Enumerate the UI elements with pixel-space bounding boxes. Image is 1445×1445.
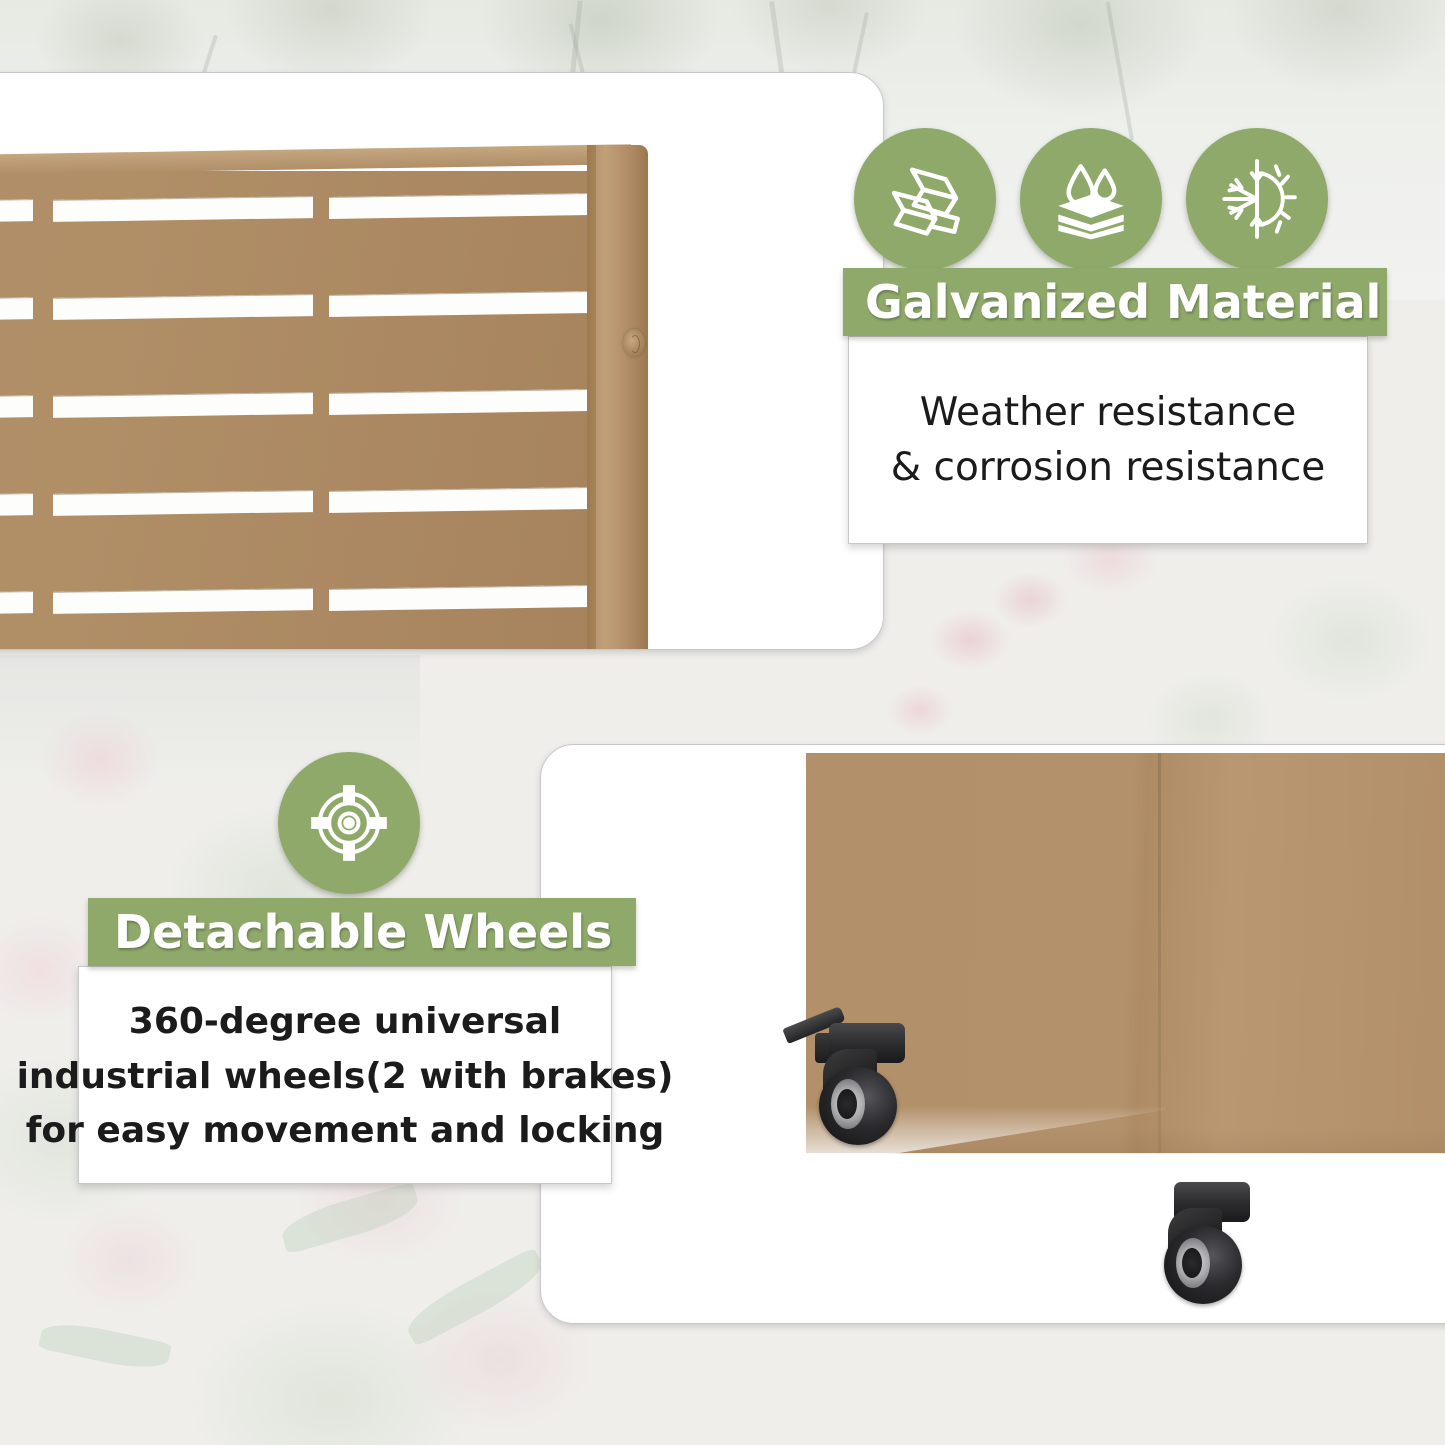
feature-title-bar: Galvanized Material (843, 268, 1387, 336)
panel-slot (53, 490, 313, 516)
product-photo-card-casters (540, 744, 1445, 1324)
post-face (596, 145, 648, 650)
box-panel-seam (1158, 753, 1161, 1153)
feature-title: Galvanized Material (865, 279, 1381, 325)
panel-slot (329, 487, 591, 513)
panel-slot (0, 199, 33, 223)
feature-description-line: for easy movement and locking (26, 1104, 665, 1159)
slatted-panel-body (0, 171, 631, 649)
panel-slot (329, 291, 591, 317)
water-droplets-layers-icon (1020, 128, 1162, 270)
panel-slot (0, 395, 33, 419)
crosshair-target-icon (278, 752, 420, 894)
panel-slot (0, 591, 33, 615)
feature-description-line: Weather resistance (920, 385, 1297, 440)
feature-description-box: Weather resistance & corrosion resistanc… (848, 336, 1368, 544)
caster-hub-center (837, 1089, 857, 1119)
screw-icon (623, 329, 645, 357)
panel-slot (53, 196, 313, 222)
panel-slot (329, 585, 591, 611)
product-photo-card-slat-panel (0, 72, 884, 650)
feature-description-line: 360-degree universal (129, 995, 561, 1050)
caster-hub-center (1182, 1248, 1202, 1278)
panel-slot (53, 294, 313, 320)
panel-slot (329, 193, 591, 219)
feature-description-box: 360-degree universal industrial wheels(2… (78, 966, 612, 1184)
panel-slot (0, 493, 33, 517)
infographic-canvas: Galvanized Material Weather resistance &… (0, 0, 1445, 1445)
feature-icon-badges (854, 128, 1328, 270)
box-bottom-shadow (806, 1128, 1445, 1154)
panel-slot (53, 392, 313, 418)
panel-slot (329, 389, 591, 415)
feature-description-line: & corrosion resistance (891, 440, 1326, 495)
feature-title: Detachable Wheels (114, 909, 612, 955)
metal-ingots-icon (854, 128, 996, 270)
feature-icon-badges (278, 752, 420, 894)
feature-title-bar: Detachable Wheels (88, 898, 636, 966)
box-with-wheels-photo (541, 745, 1445, 1323)
storage-box-body (806, 753, 1445, 1153)
panel-slot (53, 588, 313, 614)
corner-post (596, 145, 648, 650)
panel-slot (0, 297, 33, 321)
slat-panel-photo (0, 73, 821, 649)
feature-description-line: industrial wheels(2 with brakes) (17, 1050, 674, 1105)
snowflake-sun-icon (1186, 128, 1328, 270)
